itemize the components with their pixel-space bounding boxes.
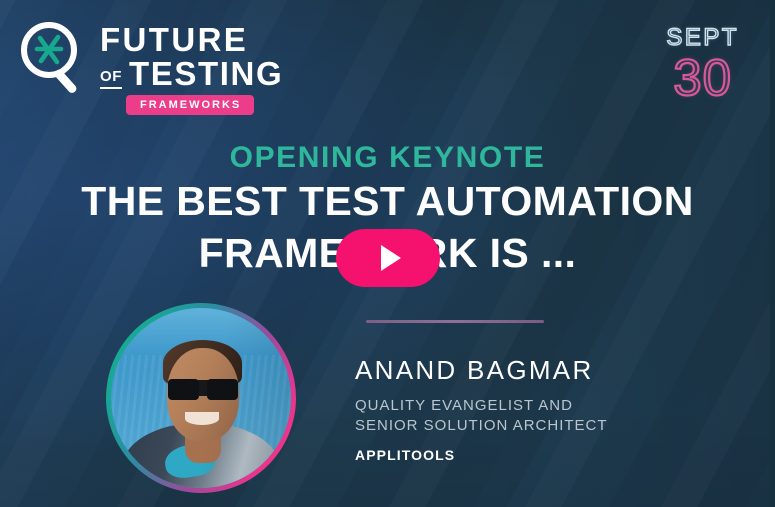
speaker-role: QUALITY EVANGELIST AND SENIOR SOLUTION A… <box>355 396 608 437</box>
play-button[interactable] <box>336 229 440 287</box>
speaker-role-line2: SENIOR SOLUTION ARCHITECT <box>355 416 608 436</box>
speaker-name: ANAND BAGMAR <box>355 355 594 386</box>
speaker-company: APPLITOOLS <box>355 447 455 463</box>
speaker-photo <box>111 308 291 488</box>
video-thumbnail-card: FUTURE OF TESTING FRAMEWORKS SEPT 30 OPE… <box>0 0 775 507</box>
logo-future-text: FUTURE <box>100 24 283 55</box>
speaker-avatar <box>106 303 296 493</box>
play-icon <box>381 245 401 271</box>
event-date: SEPT 30 <box>666 26 739 103</box>
magnifier-applitools-icon <box>16 18 90 100</box>
logo-frameworks-badge: FRAMEWORKS <box>126 95 254 115</box>
event-date-month: SEPT <box>666 26 739 50</box>
logo-of-text: OF <box>100 69 122 89</box>
session-kicker: OPENING KEYNOTE <box>0 141 775 175</box>
logo-testing-text: TESTING <box>129 58 283 89</box>
session-title-line1: THE BEST TEST AUTOMATION <box>0 178 775 225</box>
photo-shading-overlay <box>111 308 291 488</box>
logo-wordmark: FUTURE OF TESTING FRAMEWORKS <box>100 18 283 115</box>
speaker-role-line1: QUALITY EVANGELIST AND <box>355 396 608 416</box>
speaker-divider <box>366 320 544 323</box>
event-date-day: 30 <box>666 52 739 103</box>
future-of-testing-logo: FUTURE OF TESTING FRAMEWORKS <box>16 18 283 115</box>
